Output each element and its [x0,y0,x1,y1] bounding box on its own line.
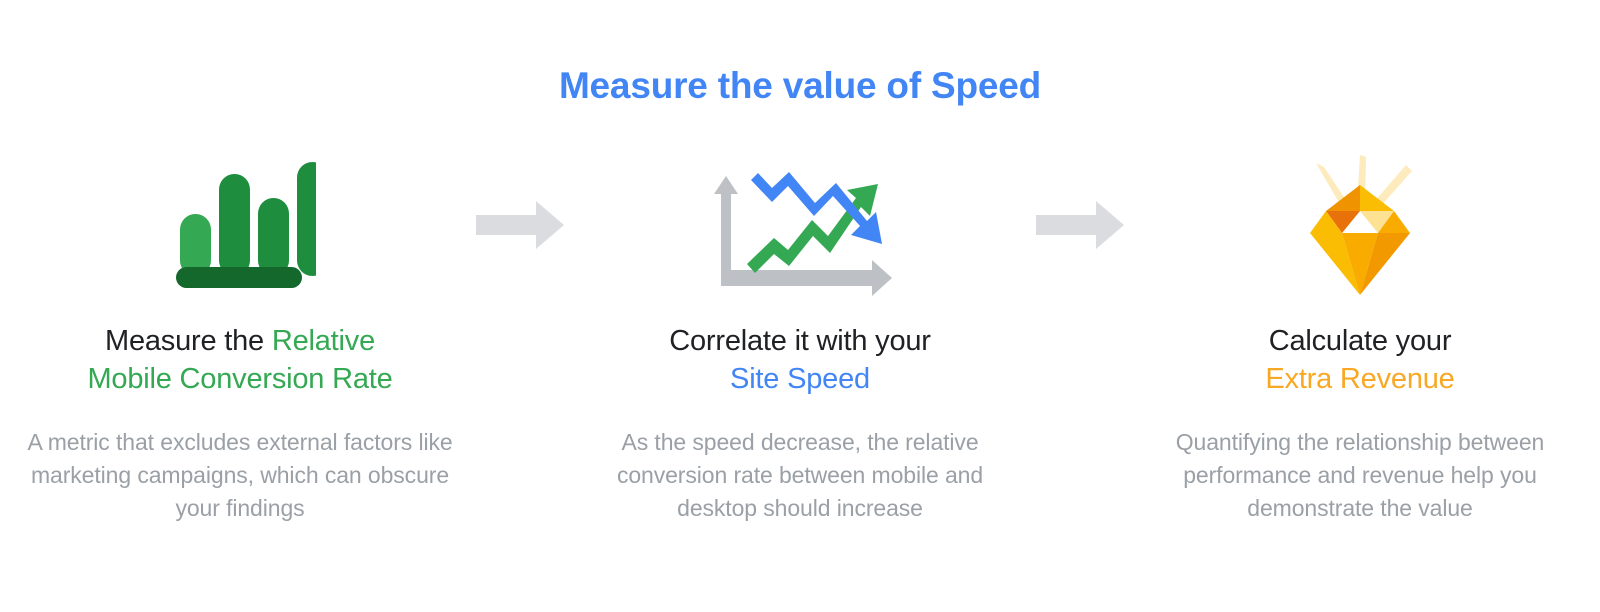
step-1-heading-accent-line2: Mobile Conversion Rate [87,363,392,395]
step-calculate-extra-revenue: Calculate your Extra Revenue Quantifying… [1136,150,1584,525]
step-3-heading: Calculate your Extra Revenue [1265,322,1454,398]
connector-2 [1024,150,1136,300]
step-2-heading-accent-line2: Site Speed [730,363,870,395]
step-2-description: As the speed decrease, the relative conv… [585,426,1015,525]
step-1-heading-plain: Measure the [105,325,272,357]
step-1-icon-box [164,150,316,300]
step-2-icon-box [700,150,900,300]
arrow-right-icon [1036,201,1124,249]
arrow-right-icon [476,201,564,249]
step-3-heading-plain: Calculate your [1269,325,1452,357]
trend-lines-chart-icon [700,154,900,296]
step-1-description: A metric that excludes external factors … [25,426,455,525]
step-3-heading-accent-line2: Extra Revenue [1265,363,1454,395]
page-title: Measure the value of Speed [0,64,1600,108]
connector-1 [464,150,576,300]
step-1-heading: Measure the Relative Mobile Conversion R… [87,322,392,398]
diamond-gem-icon [1286,151,1434,299]
bar-chart-icon [164,162,316,288]
steps-row: Measure the Relative Mobile Conversion R… [0,150,1600,525]
step-correlate-with-site-speed: Correlate it with your Site Speed As the… [576,150,1024,525]
step-2-heading: Correlate it with your Site Speed [669,322,931,398]
infographic-root: Measure the value of Speed Measure the R… [0,0,1600,612]
step-3-icon-box [1286,150,1434,300]
step-measure-relative-mobile-conversion-rate: Measure the Relative Mobile Conversion R… [16,150,464,525]
step-1-heading-accent-line1: Relative [272,325,375,357]
step-2-heading-plain: Correlate it with your [669,325,931,357]
step-3-description: Quantifying the relationship between per… [1145,426,1575,525]
